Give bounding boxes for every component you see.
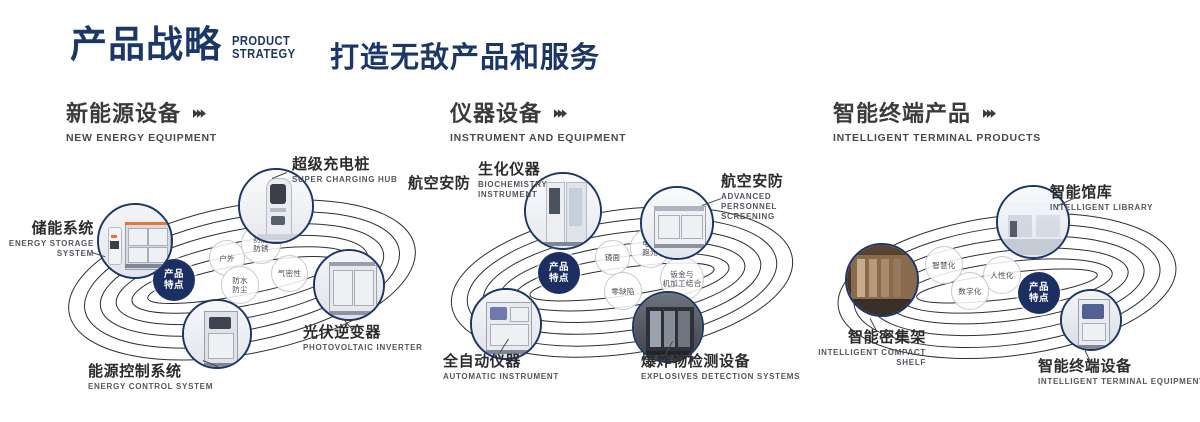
label-cn: 航空安防 <box>408 174 470 192</box>
label-intelligent-compact-shelf: 智能密集架 INTELLIGENT COMPACT SHELF <box>796 328 926 368</box>
section-title-cn: 新能源设备 <box>66 96 181 128</box>
photo-node-automatic-instrument[interactable] <box>470 288 542 360</box>
label-cn: 能源控制系统 <box>88 362 213 380</box>
photo <box>1062 291 1120 349</box>
label-en: INTELLIGENT LIBRARY <box>1050 203 1153 213</box>
label-cn: 生化仪器 <box>478 160 562 178</box>
page-title-en: PRODUCT STRATEGY <box>232 34 295 60</box>
label-energy-control-system: 能源控制系统 ENERGY CONTROL SYSTEM <box>88 362 213 392</box>
page-title: 产品战略 PRODUCT STRATEGY <box>70 26 306 63</box>
label-cn: 全自动仪器 <box>443 352 559 370</box>
photo <box>847 245 917 315</box>
label-en: BIOCHEMISTRY INSTRUMENT <box>478 180 562 200</box>
feature-bubble: 数字化 <box>951 272 989 310</box>
label-cn: 智能终端设备 <box>1038 357 1200 375</box>
label-en: ENERGY CONTROL SYSTEM <box>88 382 213 392</box>
section-title-intelligent-terminal: 智能终端产品 ▸▸▸ INTELLIGENT TERMINAL PRODUCTS <box>833 96 1041 144</box>
label-cn: 航空安防 <box>721 172 813 190</box>
chevrons-right-icon: ▸▸▸ <box>983 102 995 123</box>
label-intelligent-terminal-equipment: 智能终端设备 INTELLIGENT TERMINAL EQUIPMENT <box>1038 357 1200 387</box>
page-title-cn: 产品战略 <box>70 26 222 63</box>
photo <box>642 188 712 258</box>
label-energy-storage-system: 储能系统 ENERGY STORAGE SYSTEM <box>2 219 94 259</box>
label-super-charging-hub: 超级充电桩 SUPER CHARGING HUB <box>292 155 398 185</box>
photo-node-intelligent-terminal-equipment[interactable] <box>1060 289 1122 351</box>
section-title-cn: 智能终端产品 <box>833 96 971 128</box>
label-cn: 智能密集架 <box>796 328 926 346</box>
label-cn: 储能系统 <box>2 219 94 237</box>
label-cn: 超级充电桩 <box>292 155 398 173</box>
label-biochemistry-instrument: 生化仪器 BIOCHEMISTRY INSTRUMENT <box>478 160 562 200</box>
chevrons-right-icon: ▸▸▸ <box>554 102 566 123</box>
label-explosives-detection-systems: 爆炸物检测设备 EXPLOSIVES DETECTION SYSTEMS <box>641 352 800 382</box>
label-photovoltaic-inverter: 光伏逆变器 PHOTOVOLTAIC INVERTER <box>303 323 423 353</box>
core-bubble-cluster-2: 产品 特点 <box>538 252 580 294</box>
label-advanced-personnel-screening: 航空安防 ADVANCED PERSONNEL SCREENING <box>721 172 813 222</box>
label-en: AUTOMATIC INSTRUMENT <box>443 372 559 382</box>
section-title-new-energy: 新能源设备 ▸▸▸ NEW ENERGY EQUIPMENT <box>66 96 217 144</box>
core-bubble-cluster-3: 产品 特点 <box>1018 272 1060 314</box>
feature-bubble: 气密性 <box>271 255 308 292</box>
section-title-en: NEW ENERGY EQUIPMENT <box>66 132 217 144</box>
photo <box>184 301 250 367</box>
label-en: SUPER CHARGING HUB <box>292 175 398 185</box>
photo <box>472 290 540 358</box>
section-title-en: INTELLIGENT TERMINAL PRODUCTS <box>833 132 1041 144</box>
photo-node-energy-storage-system[interactable] <box>97 203 173 279</box>
photo-node-photovoltaic-inverter[interactable] <box>313 249 385 321</box>
label-en: EXPLOSIVES DETECTION SYSTEMS <box>641 372 800 382</box>
photo-node-advanced-personnel-screening[interactable] <box>640 186 714 260</box>
feature-bubble: 镜面 <box>595 240 630 275</box>
photo-node-energy-control-system[interactable] <box>182 299 252 369</box>
feature-bubble: 防水 防尘 <box>221 266 259 304</box>
label-cn: 光伏逆变器 <box>303 323 423 341</box>
section-title-cn: 仪器设备 <box>450 96 542 128</box>
label-automatic-instrument: 全自动仪器 AUTOMATIC INSTRUMENT <box>443 352 559 382</box>
label-cn: 智能馆库 <box>1050 183 1153 201</box>
section-title-instrument: 仪器设备 ▸▸▸ INSTRUMENT AND EQUIPMENT <box>450 96 626 144</box>
chevrons-right-icon: ▸▸▸ <box>193 102 205 123</box>
page-title-en-line2: STRATEGY <box>232 47 295 60</box>
label-en: INTELLIGENT COMPACT SHELF <box>796 348 926 368</box>
label-en: PHOTOVOLTAIC INVERTER <box>303 343 423 353</box>
label-intelligent-library: 智能馆库 INTELLIGENT LIBRARY <box>1050 183 1153 213</box>
label-en: INTELLIGENT TERMINAL EQUIPMENT <box>1038 377 1200 387</box>
label-aviation-security-left: 航空安防 <box>408 174 470 194</box>
section-title-en: INSTRUMENT AND EQUIPMENT <box>450 132 626 144</box>
infographic-canvas: 产品战略 PRODUCT STRATEGY 打造无敌产品和服务 新能源设备 ▸▸… <box>0 0 1200 422</box>
photo <box>99 205 171 277</box>
label-en: ADVANCED PERSONNEL SCREENING <box>721 192 813 222</box>
label-en: ENERGY STORAGE SYSTEM <box>2 239 94 259</box>
page-subtitle: 打造无敌产品和服务 <box>330 34 600 76</box>
photo <box>315 251 383 319</box>
photo-node-intelligent-compact-shelf[interactable] <box>845 243 919 317</box>
